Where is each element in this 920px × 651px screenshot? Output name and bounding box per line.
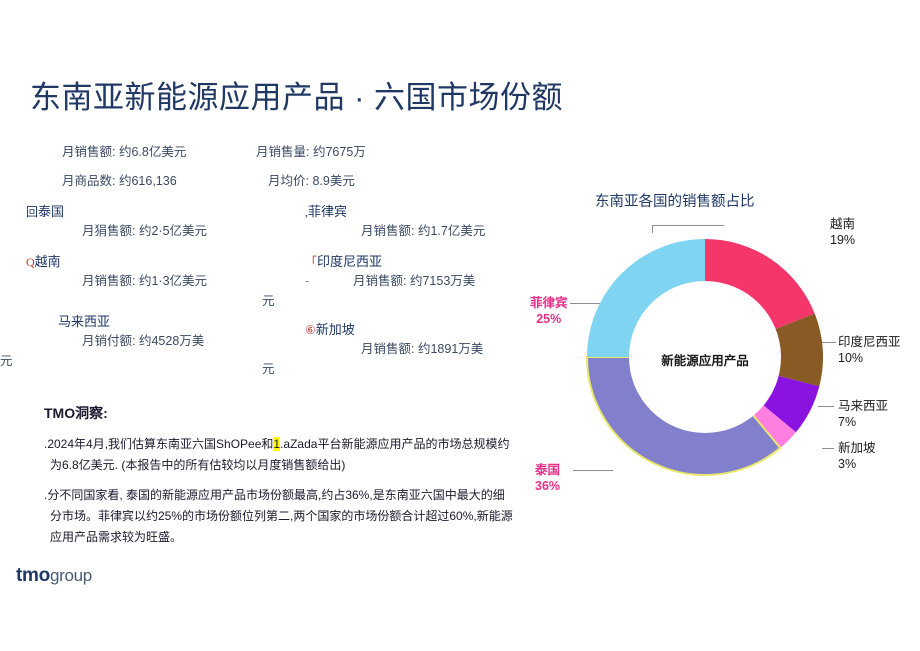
stat-value: 约616,136 (119, 174, 177, 188)
country-block-malaysia: 马来西亚 月销付额: 约4528万美 元 (26, 313, 296, 371)
insight-heading: TMO洞察: (44, 403, 514, 423)
chart-label-pct: 3% (838, 456, 876, 472)
donut-chart-svg[interactable] (580, 232, 830, 482)
country-value-malaysia: 月销付额: 约4528万美 (26, 331, 296, 351)
tmo-insight-section: TMO洞察: .2024年4月,我们估算东南亚六国ShOPee和1.aZada平… (44, 403, 514, 557)
chart-label-name: 越南 (830, 217, 855, 231)
stat-value: 8.9美元 (312, 174, 354, 188)
country-name-singapore: ⑥新加坡 (305, 321, 540, 339)
value-label: 月销售额: (361, 342, 414, 356)
chart-title: 东南亚各国的销售额占比 (595, 190, 755, 211)
chart-label-pct: 10% (838, 350, 901, 366)
country-value-vietnam: 月销售额: 约1·3亿美元 (26, 271, 296, 291)
tmo-group-logo: tmogroup (16, 565, 92, 587)
chart-label-pct: 36% (535, 478, 560, 494)
chart-label-pct: 25% (530, 311, 568, 327)
chart-label-name: 菲律宾 (530, 296, 568, 310)
country-marker-icon: ⑥ (305, 323, 316, 337)
insight-text-a: .2024年4月,我们估算东南亚六国ShOPee和 (44, 437, 273, 451)
chart-label-indonesia: 印度尼西亚 10% (838, 334, 901, 366)
country-block-thailand: 回泰国 月狷售额: 约2·5亿美元 (26, 203, 296, 241)
value-amount: 约2·5亿美元 (139, 224, 207, 238)
country-label: 马来西亚 (58, 314, 110, 329)
value-amount: 约1·3亿美元 (139, 274, 207, 288)
stat-monthly-average-price: 月均价: 8.9美元 (250, 170, 355, 189)
stat-label: 月销售额: (62, 145, 115, 159)
stat-monthly-sales-volume: 月销售量: 约7675万 (250, 141, 366, 160)
country-column-left: 回泰国 月狷售额: 约2·5亿美元 Q越南 月销售额: 约1·3亿美元 马来西亚… (26, 203, 296, 371)
stat-monthly-sales-amount: 月销售额: 约6.8亿美元 (0, 141, 250, 160)
value-amount: 约1891万美 (418, 342, 483, 356)
summary-stats: 月销售额: 约6.8亿美元 月销售量: 约7675万 月商品数: 约616,13… (0, 136, 540, 194)
insight-paragraph-2: .分不同国家看, 泰国的新能源应用产品市场份额最高,约占36%,是东南亚六国中最… (44, 485, 514, 548)
stat-value: 约7675万 (313, 145, 366, 159)
page-title: 东南亚新能源应用产品 · 六国市场份额 (30, 72, 563, 117)
value-amount: 约4528万美 (139, 334, 204, 348)
country-value-singapore: 月销售额: 约1891万美 (305, 339, 540, 359)
country-value-tail-indonesia: 元 (262, 291, 540, 311)
logo-text-bold: tmo (16, 565, 50, 586)
country-block-singapore: ⑥新加坡 月销售额: 约1891万美 元 (305, 321, 540, 379)
leader-line-vietnam (652, 225, 724, 226)
country-label: 越南 (35, 254, 61, 269)
country-value-tail-singapore: 元 (262, 359, 540, 379)
value-label: 月狷售额: (82, 224, 135, 238)
country-block-vietnam: Q越南 月销售额: 约1·3亿美元 (26, 253, 296, 291)
stat-label: 月销售量: (256, 145, 309, 159)
donut-hole (629, 281, 781, 433)
country-value-thailand: 月狷售额: 约2·5亿美元 (26, 221, 296, 241)
stat-row: 月销售额: 约6.8亿美元 月销售量: 约7675万 (0, 136, 540, 165)
stat-value: 约6.8亿美元 (119, 145, 186, 159)
country-column-right: ,菲律宾 月销售额: 约1.7亿美元 「印度尼西亚 -月销售额: 约7153万美… (305, 203, 540, 379)
chart-label-pct: 19% (830, 232, 855, 248)
country-name-indonesia: 「印度尼西亚 (305, 253, 540, 271)
country-label: 新加坡 (316, 322, 355, 337)
country-value-tail-malaysia: 元 (0, 351, 296, 371)
country-value-philippines: 月销售额: 约1.7亿美元 (305, 221, 540, 241)
country-name-malaysia: 马来西亚 (26, 313, 296, 331)
chart-label-malaysia: 马来西亚 7% (838, 398, 888, 430)
chart-label-pct: 7% (838, 414, 888, 430)
donut-chart[interactable]: 新能源应用产品 (580, 232, 830, 482)
logo-text-light: group (50, 566, 92, 585)
value-label: 月销售额: (82, 274, 135, 288)
chart-label-name: 新加坡 (838, 441, 876, 455)
stat-label: 月商品数: (62, 174, 115, 188)
value-label: 月销付额: (82, 334, 135, 348)
bullet-dash-icon: - (305, 271, 331, 291)
chart-label-name: 印度尼西亚 (838, 335, 901, 349)
country-name-philippines: ,菲律宾 (305, 203, 540, 221)
stat-label: 月均价: (268, 174, 309, 188)
chart-label-vietnam: 越南 19% (830, 216, 855, 248)
insight-paragraph-1: .2024年4月,我们估算东南亚六国ShOPee和1.aZada平台新能源应用产… (44, 434, 514, 476)
country-block-philippines: ,菲律宾 月销售额: 约1.7亿美元 (305, 203, 540, 241)
country-block-indonesia: 「印度尼西亚 -月销售额: 约7153万美 元 (305, 253, 540, 311)
chart-label-thailand: 泰国 36% (535, 462, 560, 494)
country-label: 菲律宾 (308, 204, 347, 219)
stat-row: 月商品数: 约616,136 月均价: 8.9美元 (0, 165, 540, 194)
stat-monthly-product-count: 月商品数: 约616,136 (0, 170, 250, 189)
country-marker-icon: Q (26, 255, 35, 269)
country-name-thailand: 回泰国 (26, 203, 296, 221)
country-name-vietnam: Q越南 (26, 253, 296, 271)
country-value-indonesia: -月销售额: 约7153万美 (305, 271, 540, 291)
chart-label-singapore: 新加坡 3% (838, 440, 876, 472)
country-label: 印度尼西亚 (317, 254, 382, 269)
country-marker-icon: 回 (26, 205, 38, 219)
sales-share-chart-panel: 东南亚各国的销售额占比 新能源应用产品 越南 19% 印度尼西亚 10% 马来西… (530, 190, 920, 520)
chart-label-name: 马来西亚 (838, 399, 888, 413)
chart-label-name: 泰国 (535, 463, 560, 477)
country-label: 泰国 (38, 204, 64, 219)
country-marker-icon: 「 (305, 255, 317, 269)
value-amount: 约1.7亿美元 (418, 224, 485, 238)
value-amount: 约7153万美 (410, 274, 475, 288)
value-label: 月销售额: (353, 274, 406, 288)
value-label: 月销售额: (361, 224, 414, 238)
chart-label-philippines: 菲律宾 25% (530, 295, 568, 327)
